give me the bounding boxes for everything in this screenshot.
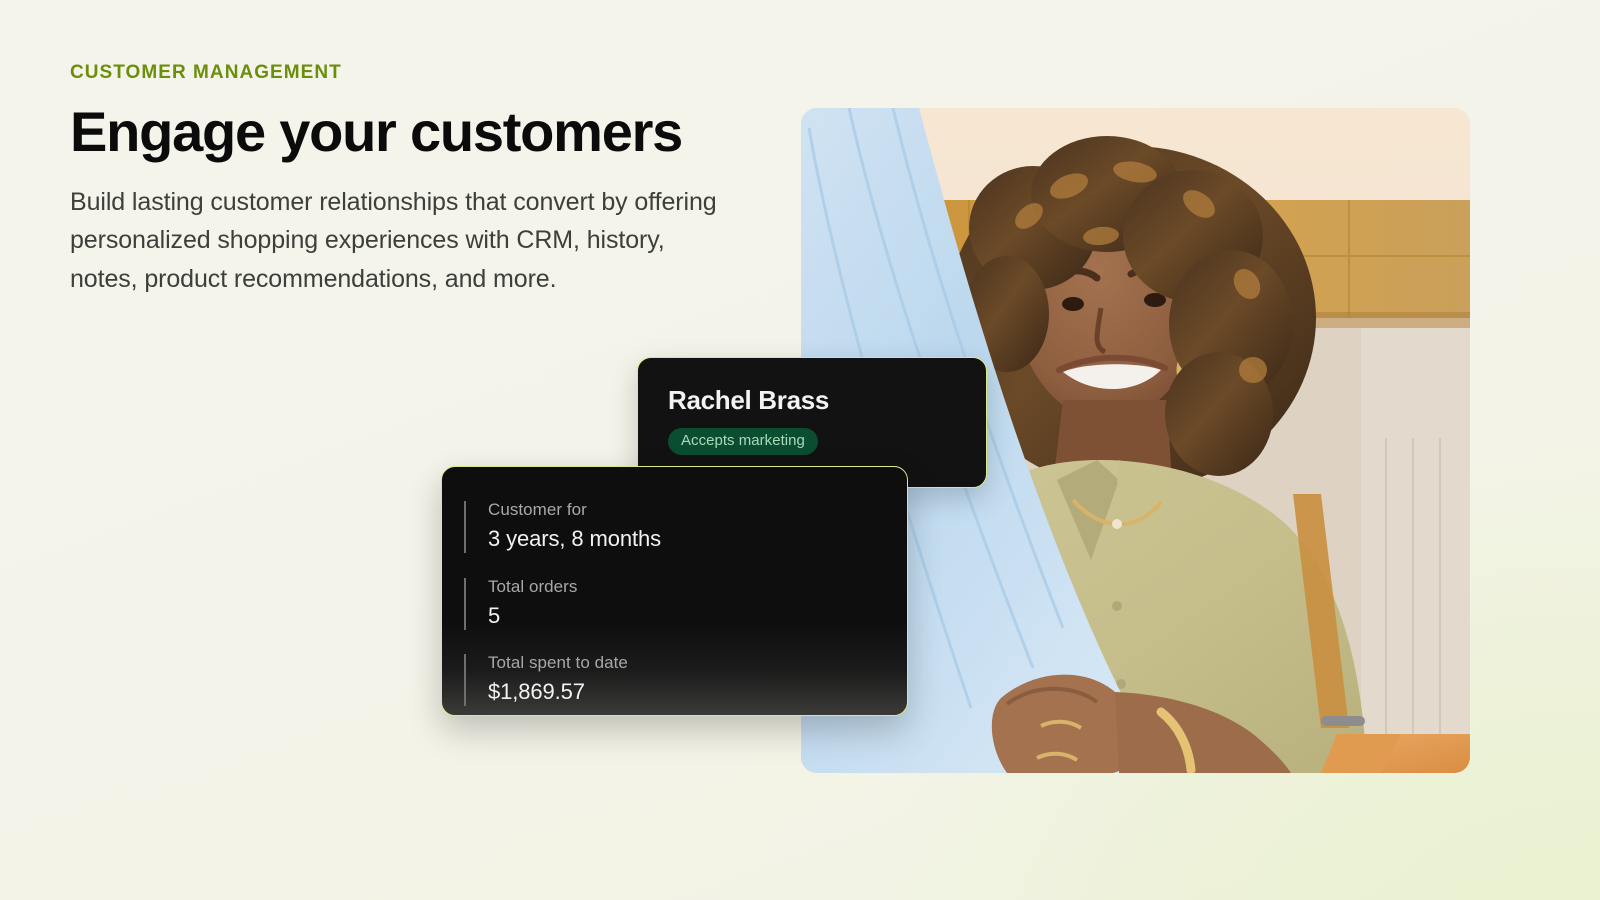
body-paragraph: Build lasting customer relationships tha… [70,183,720,298]
stat-value: $1,869.57 [488,678,907,707]
stat-item: Total orders 5 [464,576,907,631]
stat-label: Total orders [488,576,907,598]
customer-stats-card[interactable]: Customer for 3 years, 8 months Total ord… [441,466,908,716]
copy-block: CUSTOMER MANAGEMENT Engage your customer… [70,62,760,298]
page-title: Engage your customers [70,103,760,161]
status-badge: Accepts marketing [668,428,818,456]
stat-value: 5 [488,602,907,631]
stat-item: Customer for 3 years, 8 months [464,499,907,554]
stat-item: Total spent to date $1,869.57 [464,652,907,707]
stat-label: Customer for [488,499,907,521]
customer-name: Rachel Brass [668,386,956,415]
stat-label: Total spent to date [488,652,907,674]
promo-banner: CUSTOMER MANAGEMENT Engage your customer… [0,0,1600,900]
eyebrow-label: CUSTOMER MANAGEMENT [70,62,760,85]
stat-value: 3 years, 8 months [488,525,907,554]
